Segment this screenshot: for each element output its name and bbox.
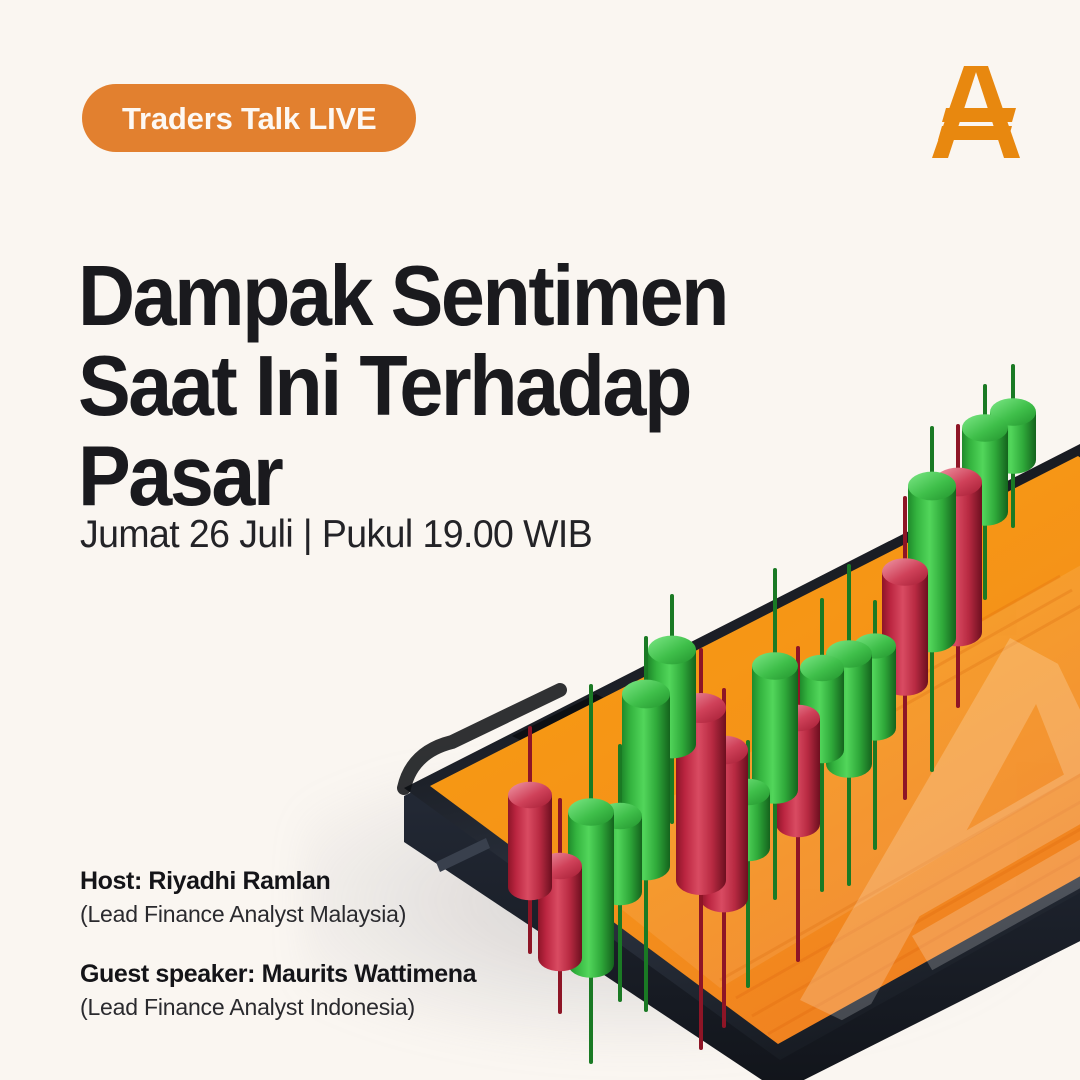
poster-canvas: Traders Talk LIVE Dampak Sentimen Saat I… <box>0 0 1080 1080</box>
title-line-1: Dampak Sentimen <box>78 252 785 342</box>
candle-17 <box>934 426 982 706</box>
candle-18 <box>962 386 1008 598</box>
candle-10 <box>752 570 798 898</box>
speaker-credits: Host: Riyadhi Ramlan (Lead Finance Analy… <box>80 866 476 1023</box>
candle-13 <box>826 566 872 884</box>
candle-16 <box>908 428 956 770</box>
schedule-text: Jumat 26 Juli | Pukul 19.00 WIB <box>80 513 592 557</box>
live-badge[interactable]: Traders Talk LIVE <box>82 84 416 152</box>
candle-11 <box>776 648 820 960</box>
guest-credit: Guest speaker: Maurits Wattimena (Lead F… <box>80 959 476 1022</box>
page-title: Dampak Sentimen Saat Ini Terhadap Pasar <box>78 252 785 522</box>
candle-12 <box>800 600 844 890</box>
host-name: Host: Riyadhi Ramlan <box>80 866 476 897</box>
candle-14 <box>854 602 896 848</box>
candle-4 <box>598 746 642 1000</box>
guest-name: Guest speaker: Maurits Wattimena <box>80 959 476 990</box>
candle-19 <box>990 366 1036 526</box>
candle-15 <box>882 498 928 798</box>
candle-3 <box>568 686 614 1062</box>
host-role: (Lead Finance Analyst Malaysia) <box>80 900 476 930</box>
candle-5 <box>622 638 670 1010</box>
candle-9 <box>726 742 770 986</box>
host-credit: Host: Riyadhi Ramlan (Lead Finance Analy… <box>80 866 476 929</box>
title-line-3: Pasar <box>78 432 785 522</box>
candle-1 <box>508 728 552 952</box>
screen-watermark <box>560 560 1080 1034</box>
candle-2 <box>538 800 582 1012</box>
candle-6 <box>648 596 696 822</box>
brand-a-logo <box>924 58 1028 166</box>
brand-a-logo-icon <box>924 58 1028 166</box>
guest-role: (Lead Finance Analyst Indonesia) <box>80 993 476 1023</box>
candle-7 <box>676 650 726 1048</box>
candle-8 <box>700 690 748 1026</box>
live-badge-label: Traders Talk LIVE <box>122 103 376 134</box>
title-line-2: Saat Ini Terhadap <box>78 342 785 432</box>
